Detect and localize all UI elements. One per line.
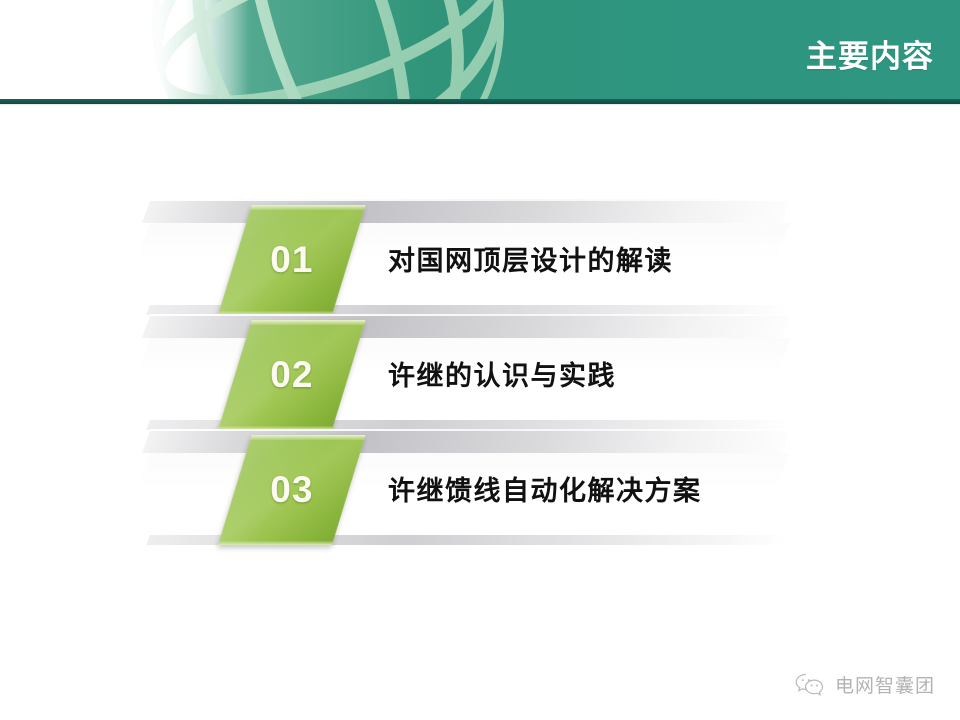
agenda-item-02[interactable]: 02 许继的认识与实践 — [0, 314, 960, 442]
slide: 主要内容 01 对国网顶层设计的解读 — [0, 0, 960, 720]
agenda-number-tile[interactable]: 02 — [218, 320, 366, 430]
watermark-label: 电网智囊团 — [835, 671, 935, 698]
agenda-number-tile[interactable]: 01 — [218, 205, 366, 315]
agenda-number: 02 — [235, 320, 349, 430]
agenda-number-tile[interactable]: 03 — [218, 435, 366, 545]
agenda-label: 许继馈线自动化解决方案 — [388, 429, 702, 547]
agenda-item-01[interactable]: 01 对国网顶层设计的解读 — [0, 199, 960, 327]
footer-watermark: 电网智囊团 — [794, 671, 935, 698]
agenda-number: 03 — [235, 435, 349, 545]
wechat-icon — [794, 672, 826, 698]
agenda-label: 许继的认识与实践 — [388, 314, 616, 432]
agenda-number: 01 — [235, 205, 349, 315]
agenda-label: 对国网顶层设计的解读 — [388, 199, 673, 317]
agenda-list: 01 对国网顶层设计的解读 02 许继的认识与实践 — [0, 0, 960, 720]
agenda-item-03[interactable]: 03 许继馈线自动化解决方案 — [0, 429, 960, 557]
